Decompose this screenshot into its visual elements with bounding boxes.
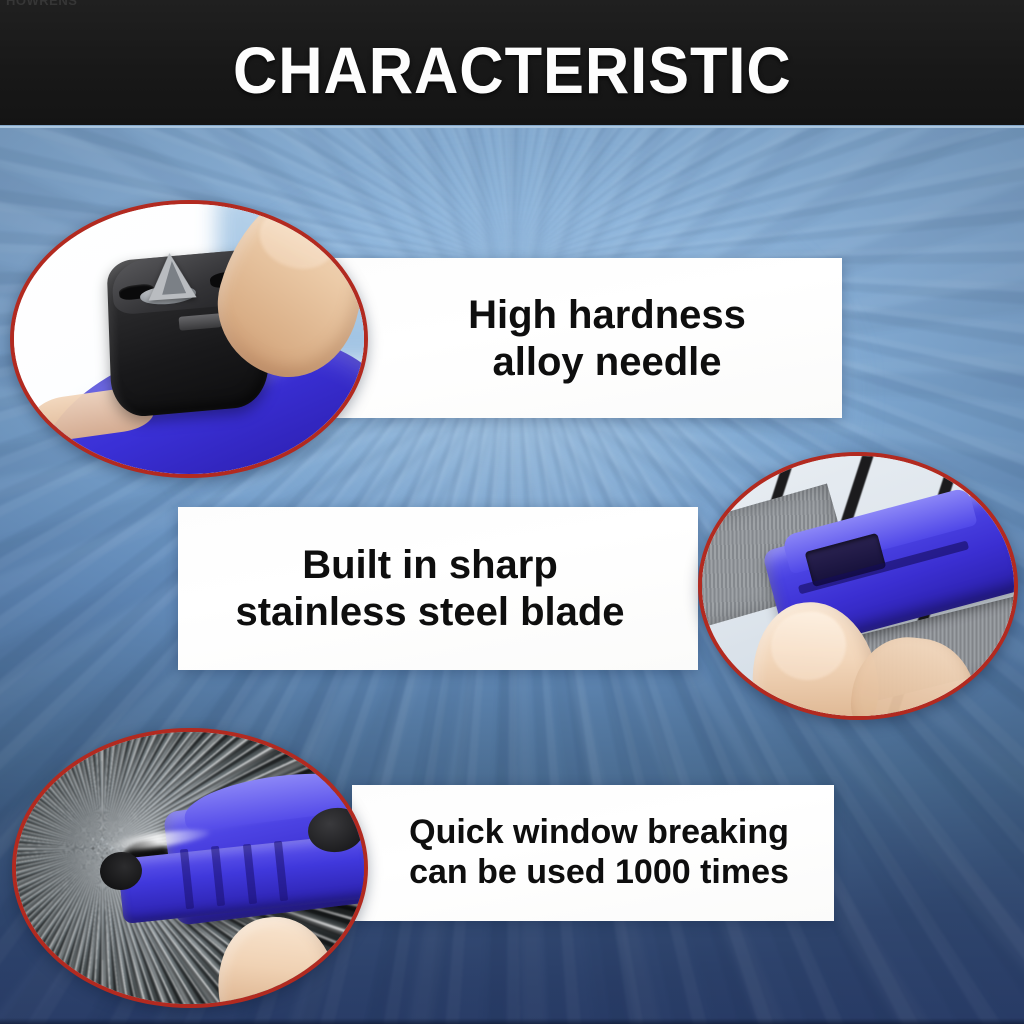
feature-callout-quick-window-breaking: Quick window breaking can be used 1000 t…: [352, 785, 834, 921]
feature-photo-alloy-needle: [10, 200, 368, 478]
feature-callout-label-1: High hardness alloy needle: [330, 292, 842, 386]
page-title: CHARACTERISTIC: [0, 0, 1024, 128]
infographic-page: HOWRENS CHARACTERISTIC High hardness all…: [0, 0, 1024, 1024]
background-floor-line: [0, 1018, 1024, 1024]
feature-photo-seatbelt-blade: [698, 452, 1018, 720]
feature-photo-shattered-glass: [12, 728, 368, 1008]
feature-callout-high-hardness-alloy-needle: High hardness alloy needle: [330, 258, 842, 418]
feature-callout-label-2: Built in sharp stainless steel blade: [178, 542, 698, 636]
feature-callout-stainless-steel-blade: Built in sharp stainless steel blade: [178, 507, 698, 670]
page-title-text: CHARACTERISTIC: [233, 37, 792, 103]
header-bar: HOWRENS CHARACTERISTIC: [0, 0, 1024, 128]
feature-callout-label-3: Quick window breaking can be used 1000 t…: [352, 813, 834, 893]
alloy-needle-tip: [160, 260, 186, 295]
header-divider: [0, 125, 1024, 128]
